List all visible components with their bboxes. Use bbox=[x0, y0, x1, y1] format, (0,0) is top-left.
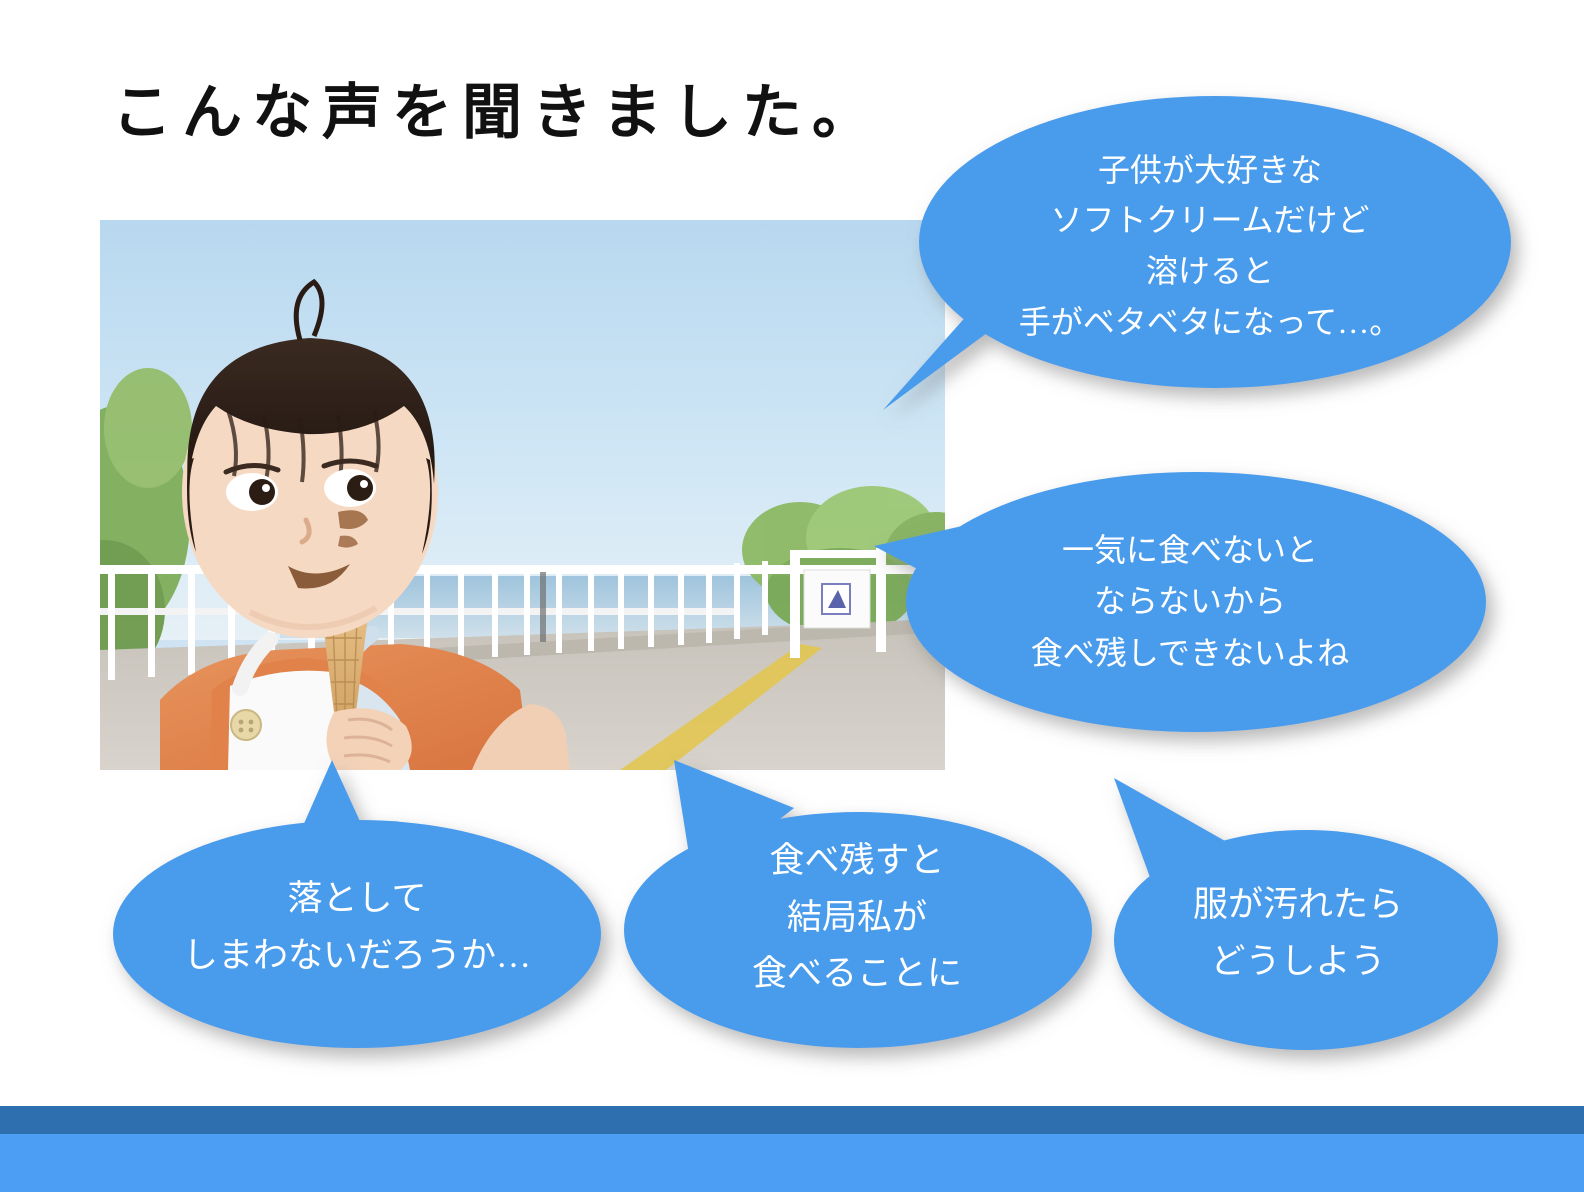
slide-canvas: こんな声を聞きました。 bbox=[0, 0, 1584, 1192]
bubble-body-and-tail bbox=[883, 96, 1511, 410]
bubble-body-and-tail bbox=[1114, 778, 1498, 1050]
bubble-ellipse bbox=[113, 820, 601, 1048]
speech-bubble-shape bbox=[112, 752, 602, 1052]
bubble-body-and-tail bbox=[874, 472, 1486, 732]
speech-bubble-drop[interactable]: 落として しまわないだろうか… bbox=[112, 752, 602, 1052]
speech-bubble-shape bbox=[890, 468, 1490, 736]
speech-bubble-shape bbox=[622, 742, 1092, 1052]
photo-illustration bbox=[100, 220, 945, 770]
speech-bubble-clothes[interactable]: 服が汚れたら どうしよう bbox=[1098, 762, 1498, 1054]
child-ice-cream-photo bbox=[100, 220, 945, 770]
footer-bar-dark bbox=[0, 1106, 1584, 1134]
bubble-ellipse bbox=[1114, 830, 1498, 1050]
page-title: こんな声を聞きました。 bbox=[112, 82, 882, 145]
speech-bubble-shape bbox=[1098, 762, 1498, 1054]
footer-bar-light bbox=[0, 1134, 1584, 1192]
bubble-body-and-tail bbox=[113, 760, 601, 1048]
bubble-ellipse bbox=[919, 96, 1511, 388]
speech-bubble-shape bbox=[905, 88, 1515, 418]
bubble-ellipse bbox=[624, 812, 1092, 1048]
speech-bubble-leftovers[interactable]: 食べ残すと 結局私が 食べることに bbox=[622, 742, 1092, 1052]
bubble-body-and-tail bbox=[624, 760, 1092, 1048]
bubble-ellipse bbox=[906, 472, 1486, 732]
speech-bubble-eat-at-once[interactable]: 一気に食べないと ならないから 食べ残しできないよね bbox=[890, 468, 1490, 736]
speech-bubble-soft-cream[interactable]: 子供が大好きな ソフトクリームだけど 溶けると 手がベタベタになって…。 bbox=[905, 88, 1515, 418]
